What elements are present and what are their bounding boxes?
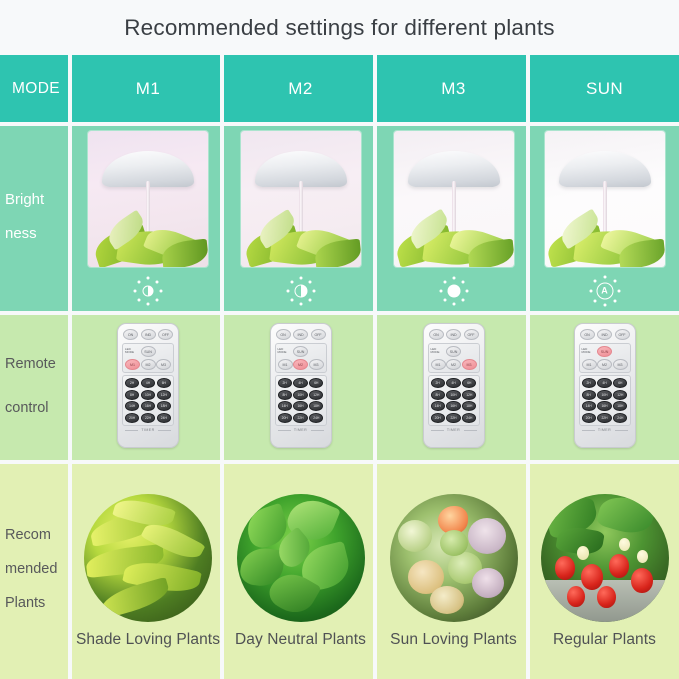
header-col-m1: M1: [72, 55, 224, 122]
remote-led-mode-button[interactable]: LED MODE: [582, 346, 597, 356]
header-col-m1-label: M1: [136, 79, 160, 99]
remote-sun-button[interactable]: SUN: [293, 346, 308, 357]
remote-off-button[interactable]: OFF: [311, 329, 326, 340]
plants-cell-m2: Day Neutral Plants: [224, 460, 377, 679]
remote-timer-6h[interactable]: 6H: [309, 378, 323, 388]
plant-caption-m2: Day Neutral Plants: [235, 631, 366, 649]
brightness-high-icon: [437, 274, 471, 308]
remote-timer-12h[interactable]: 12H: [157, 390, 171, 400]
remote-timer-4h[interactable]: 4H: [446, 378, 460, 388]
remote-timer-6h[interactable]: 6H: [613, 378, 627, 388]
grow-lamp-photo-sun: [545, 131, 665, 267]
remote-m2-button[interactable]: M2: [293, 359, 308, 370]
remote-cell-m1: ON IND OFF LED MODE SUN M1 M2 M3: [72, 311, 224, 460]
remote-led-mode-button[interactable]: LED MODE: [431, 346, 446, 356]
remote-timer-4h[interactable]: 4H: [293, 378, 307, 388]
strawberries-photo: [541, 494, 669, 622]
remote-control-m1[interactable]: ON IND OFF LED MODE SUN M1 M2 M3: [117, 323, 179, 448]
row-label-recommended-plants: RecommendedPlants: [0, 460, 72, 679]
header-col-m3: M3: [377, 55, 530, 122]
remote-timer-2h[interactable]: 2H: [431, 378, 445, 388]
remote-timer-20h[interactable]: 20H: [125, 413, 139, 423]
remote-timer-16h[interactable]: 16H: [141, 401, 155, 411]
remote-timer-label: TIMER: [275, 428, 327, 432]
row-label-remote-control: Remotecontrol: [0, 311, 72, 460]
remote-sun-button[interactable]: SUN: [446, 346, 461, 357]
remote-timer-14h[interactable]: 14H: [278, 401, 292, 411]
remote-timer-20h[interactable]: 20H: [582, 413, 596, 423]
remote-timer-grid[interactable]: 2H 4H 6H 8H 10H 12H 14H 16H 18H 20H 22H …: [122, 375, 174, 426]
remote-timer-12h[interactable]: 12H: [462, 390, 476, 400]
remote-timer-label: TIMER: [428, 428, 480, 432]
header-mode-cell: MODE: [0, 55, 72, 122]
remote-m3-button[interactable]: M3: [462, 359, 477, 370]
remote-timer-14h[interactable]: 14H: [431, 401, 445, 411]
remote-on-button[interactable]: ON: [580, 329, 595, 340]
plant-caption-m3: Sun Loving Plants: [390, 631, 517, 649]
brightness-low-icon: [131, 274, 165, 308]
remote-timer-16h[interactable]: 16H: [597, 401, 611, 411]
header-col-m2-label: M2: [288, 79, 312, 99]
remote-timer-label: TIMER: [122, 428, 174, 432]
remote-ind-button[interactable]: IND: [141, 329, 156, 340]
plant-caption-sun: Regular Plants: [553, 631, 656, 649]
remote-timer-6h[interactable]: 6H: [157, 378, 171, 388]
remote-timer-grid[interactable]: 2H 4H 6H 8H 10H 12H 14H 16H 18H 20H 22H …: [579, 375, 631, 426]
remote-control-m2[interactable]: ON IND OFF LED MODE SUN M1 M2 M3: [270, 323, 332, 448]
remote-timer-16h[interactable]: 16H: [446, 401, 460, 411]
remote-timer-2h[interactable]: 2H: [125, 378, 139, 388]
remote-off-button[interactable]: OFF: [158, 329, 173, 340]
plants-cell-sun: Regular Plants: [530, 460, 679, 679]
remote-timer-14h[interactable]: 14H: [125, 401, 139, 411]
plants-cell-m1: Shade Loving Plants: [72, 460, 224, 679]
remote-timer-22h[interactable]: 22H: [293, 413, 307, 423]
remote-cell-sun: ON IND OFF LED MODE SUN M1 M2 M3: [530, 311, 679, 460]
brightness-cell-m1: [72, 122, 224, 311]
remote-timer-grid[interactable]: 2H 4H 6H 8H 10H 12H 14H 16H 18H 20H 22H …: [428, 375, 480, 426]
remote-timer-10h[interactable]: 10H: [141, 390, 155, 400]
remote-timer-24h[interactable]: 24H: [157, 413, 171, 423]
remote-cell-m2: ON IND OFF LED MODE SUN M1 M2 M3: [224, 311, 377, 460]
auto-letter: A: [601, 287, 608, 296]
remote-timer-24h[interactable]: 24H: [309, 413, 323, 423]
row-label-brightness: Brightness: [0, 122, 72, 311]
page-title: Recommended settings for different plant…: [0, 0, 679, 55]
brightness-cell-m2: [224, 122, 377, 311]
header-col-m3-label: M3: [441, 79, 465, 99]
remote-timer-20h[interactable]: 20H: [278, 413, 292, 423]
remote-on-button[interactable]: ON: [276, 329, 291, 340]
remote-m2-button[interactable]: M2: [597, 359, 612, 370]
brightness-auto-icon: A: [588, 274, 622, 308]
remote-timer-8h[interactable]: 8H: [582, 390, 596, 400]
remote-ind-button[interactable]: IND: [597, 329, 612, 340]
ferns-photo: [84, 494, 212, 622]
remote-off-button[interactable]: OFF: [615, 329, 630, 340]
remote-sun-button[interactable]: SUN: [597, 346, 612, 357]
remote-m3-button[interactable]: M3: [309, 359, 324, 370]
remote-timer-14h[interactable]: 14H: [582, 401, 596, 411]
remote-ind-button[interactable]: IND: [446, 329, 461, 340]
grow-lamp-photo-m3: [394, 131, 514, 267]
remote-on-button[interactable]: ON: [429, 329, 444, 340]
remote-m1-button[interactable]: M1: [125, 359, 140, 370]
remote-timer-8h[interactable]: 8H: [431, 390, 445, 400]
remote-cell-m3: ON IND OFF LED MODE SUN M1 M2 M3: [377, 311, 530, 460]
grow-lamp-photo-m2: [241, 131, 361, 267]
succulents-photo: [390, 494, 518, 622]
remote-ind-button[interactable]: IND: [293, 329, 308, 340]
remote-timer-24h[interactable]: 24H: [613, 413, 627, 423]
brightness-cell-sun: A: [530, 122, 679, 311]
remote-timer-22h[interactable]: 22H: [597, 413, 611, 423]
remote-led-mode-button[interactable]: LED MODE: [125, 346, 140, 356]
remote-m1-button[interactable]: M1: [582, 359, 597, 370]
row-label-remote-control-text: Remotecontrol: [5, 353, 67, 419]
remote-off-button[interactable]: OFF: [464, 329, 479, 340]
remote-timer-12h[interactable]: 12H: [309, 390, 323, 400]
remote-timer-2h[interactable]: 2H: [278, 378, 292, 388]
remote-sun-button[interactable]: SUN: [141, 346, 156, 357]
remote-timer-grid[interactable]: 2H 4H 6H 8H 10H 12H 14H 16H 18H 20H 22H …: [275, 375, 327, 426]
remote-timer-24h[interactable]: 24H: [462, 413, 476, 423]
remote-m3-button[interactable]: M3: [156, 359, 171, 370]
header-col-sun-label: SUN: [586, 79, 623, 99]
remote-timer-4h[interactable]: 4H: [141, 378, 155, 388]
brightness-medium-icon: [284, 274, 318, 308]
row-label-recommended-plants-text: RecommendedPlants: [5, 527, 69, 612]
remote-timer-18h[interactable]: 18H: [462, 401, 476, 411]
remote-m3-button[interactable]: M3: [613, 359, 628, 370]
remote-timer-10h[interactable]: 10H: [293, 390, 307, 400]
remote-timer-18h[interactable]: 18H: [157, 401, 171, 411]
remote-m1-button[interactable]: M1: [431, 359, 446, 370]
remote-timer-12h[interactable]: 12H: [613, 390, 627, 400]
recommended-settings-infographic: Recommended settings for different plant…: [0, 0, 679, 679]
remote-timer-18h[interactable]: 18H: [309, 401, 323, 411]
remote-m2-button[interactable]: M2: [446, 359, 461, 370]
brightness-cell-m3: [377, 122, 530, 311]
settings-table: MODE M1 M2 M3 SUN Brightness: [0, 55, 679, 679]
remote-timer-10h[interactable]: 10H: [597, 390, 611, 400]
remote-timer-label: TIMER: [579, 428, 631, 432]
remote-control-m3[interactable]: ON IND OFF LED MODE SUN M1 M2 M3: [423, 323, 485, 448]
remote-timer-8h[interactable]: 8H: [125, 390, 139, 400]
pothos-photo: [237, 494, 365, 622]
remote-timer-18h[interactable]: 18H: [613, 401, 627, 411]
remote-timer-4h[interactable]: 4H: [597, 378, 611, 388]
remote-m1-button[interactable]: M1: [278, 359, 293, 370]
remote-m2-button[interactable]: M2: [141, 359, 156, 370]
remote-timer-8h[interactable]: 8H: [278, 390, 292, 400]
remote-timer-2h[interactable]: 2H: [582, 378, 596, 388]
header-col-sun: SUN: [530, 55, 679, 122]
remote-timer-10h[interactable]: 10H: [446, 390, 460, 400]
plants-cell-m3: Sun Loving Plants: [377, 460, 530, 679]
grow-lamp-photo-m1: [88, 131, 208, 267]
remote-timer-16h[interactable]: 16H: [293, 401, 307, 411]
remote-timer-22h[interactable]: 22H: [446, 413, 460, 423]
remote-timer-22h[interactable]: 22H: [141, 413, 155, 423]
plant-caption-m1: Shade Loving Plants: [76, 631, 220, 649]
remote-control-sun[interactable]: ON IND OFF LED MODE SUN M1 M2 M3: [574, 323, 636, 448]
header-mode-label: MODE: [12, 80, 60, 98]
remote-on-button[interactable]: ON: [123, 329, 138, 340]
header-col-m2: M2: [224, 55, 377, 122]
row-label-brightness-text: Brightness: [5, 191, 65, 242]
remote-timer-6h[interactable]: 6H: [462, 378, 476, 388]
remote-led-mode-button[interactable]: LED MODE: [278, 346, 293, 356]
remote-timer-20h[interactable]: 20H: [431, 413, 445, 423]
